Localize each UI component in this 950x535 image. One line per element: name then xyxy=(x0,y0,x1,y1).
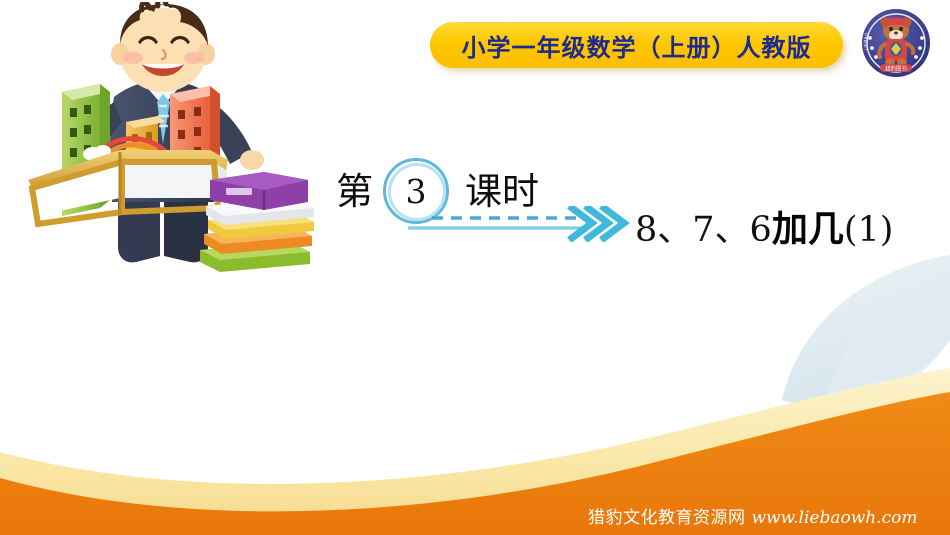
badge-bottom-text: 猎豹图书 xyxy=(885,65,907,73)
lesson-suffix: 课时 xyxy=(465,173,539,210)
topic-index: (1) xyxy=(844,210,894,250)
watermark: 猎豹文化教育资源网 www.liebaowh.com xyxy=(588,503,918,528)
watermark-site-name: 猎豹文化教育资源网 xyxy=(588,503,746,528)
liebao-mascot-badge-icon: 猎豹图书 LIEBAOTUSHU xyxy=(861,8,931,78)
dashed-chevron-arrow-icon xyxy=(400,206,630,242)
topic-title: 8、7、6加几(1) xyxy=(635,200,893,252)
topic-numbers: 8、7、6 xyxy=(635,210,772,250)
lesson-number: 3 xyxy=(406,172,427,211)
topic-chinese: 加几 xyxy=(772,208,844,250)
slide-canvas: 小学一年级数学（上册）人教版 xyxy=(0,0,950,535)
header-banner-text: 小学一年级数学（上册）人教版 xyxy=(462,28,812,63)
lesson-prefix: 第 xyxy=(336,173,373,210)
boy-with-open-book-illustration xyxy=(14,2,324,282)
watermark-url: www.liebaowh.com xyxy=(752,508,918,528)
header-banner: 小学一年级数学（上册）人教版 xyxy=(430,22,843,68)
